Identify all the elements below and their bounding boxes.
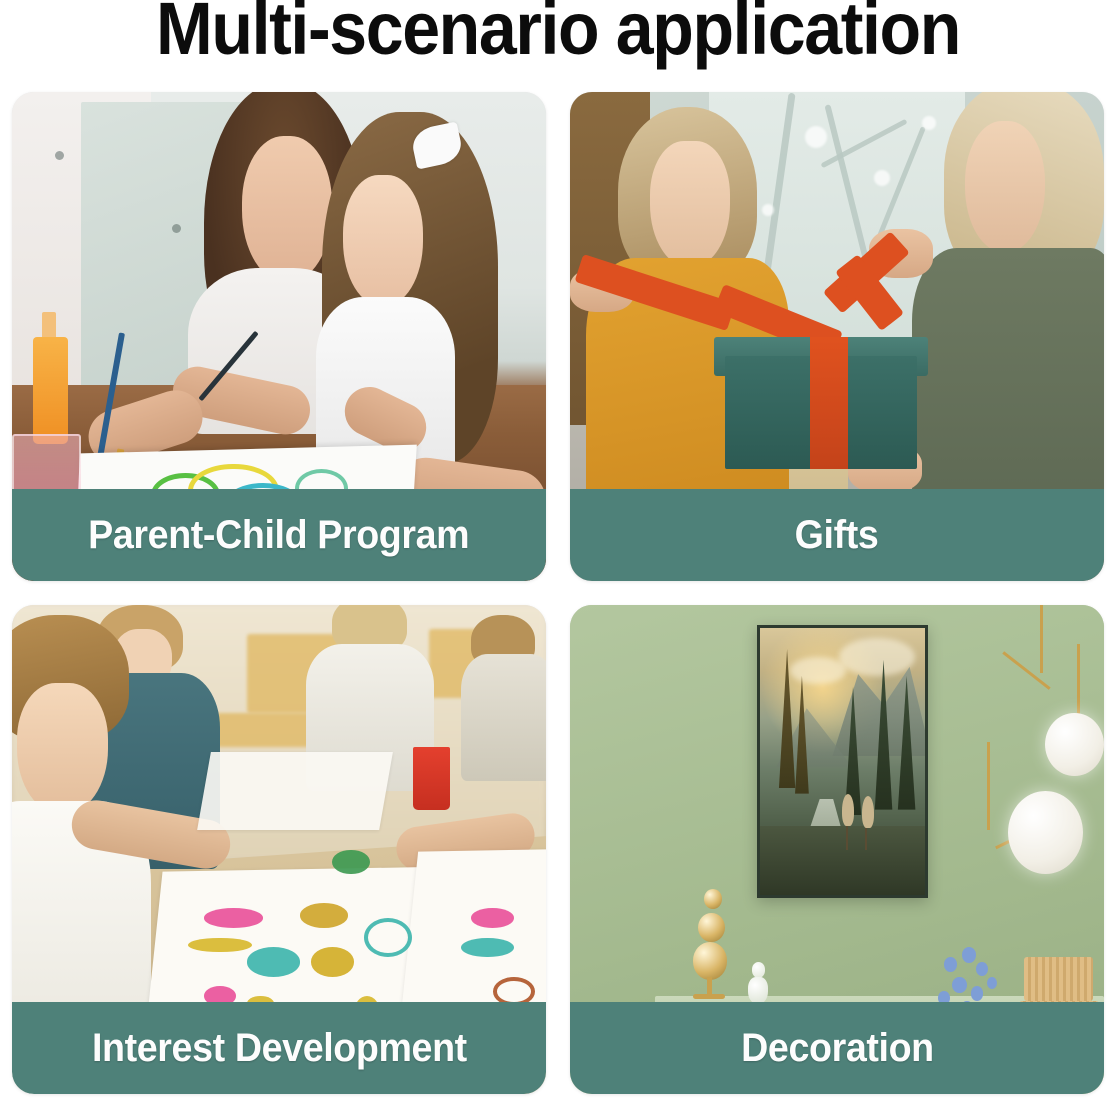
caption-bar-decoration: Decoration: [570, 1002, 1104, 1094]
scenario-card-parent-child-program[interactable]: Parent-Child Program: [12, 92, 546, 581]
scenario-card-interest-development[interactable]: Interest Development: [12, 605, 546, 1094]
caption-bar-gifts: Gifts: [570, 489, 1104, 581]
page-title: Multi-scenario application: [45, 0, 1072, 72]
scenario-grid: Parent-Child Program: [12, 92, 1104, 1094]
framed-artwork: [757, 625, 928, 899]
caption-label: Gifts: [795, 513, 879, 557]
caption-bar-interest-development: Interest Development: [12, 1002, 546, 1094]
product-infographic: Multi-scenario application: [0, 0, 1116, 1102]
scenario-card-gifts[interactable]: Gifts: [570, 92, 1104, 581]
caption-bar-parent-child-program: Parent-Child Program: [12, 489, 546, 581]
scenario-card-decoration[interactable]: Decoration: [570, 605, 1104, 1094]
caption-label: Decoration: [741, 1026, 934, 1070]
caption-label: Interest Development: [92, 1026, 467, 1070]
caption-label: Parent-Child Program: [88, 513, 469, 557]
